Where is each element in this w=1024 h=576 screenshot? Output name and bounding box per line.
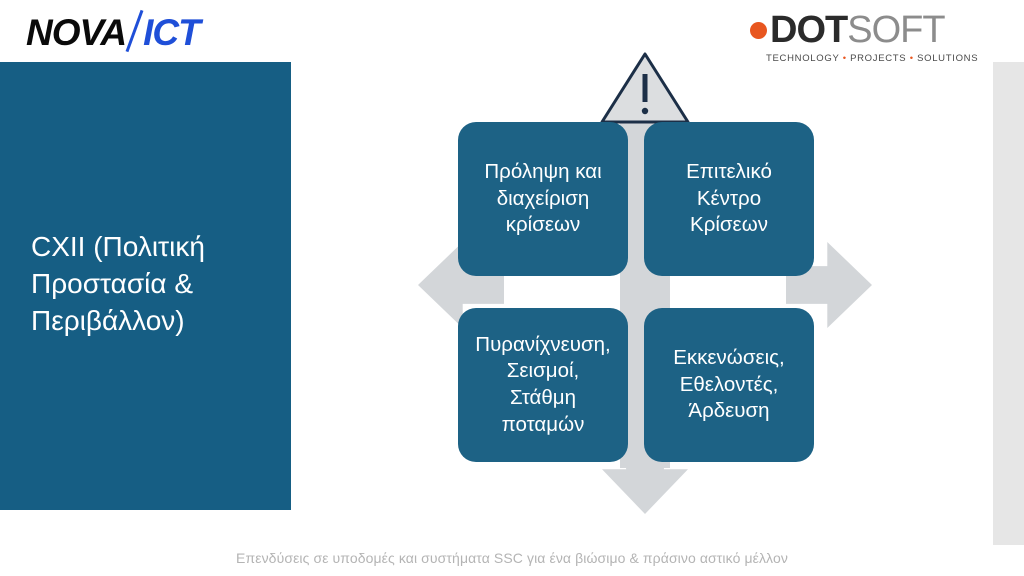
quadrant-box-crisis-center[interactable]: Επιτελικό Κέντρο Κρίσεων — [644, 122, 814, 276]
warning-triangle-icon — [598, 48, 692, 128]
quadrant-box-label: Πυρανίχνευση, Σεισμοί, Στάθμη ποταμών — [475, 332, 610, 439]
quadrant-box-detection[interactable]: Πυρανίχνευση, Σεισμοί, Στάθμη ποταμών — [458, 308, 628, 462]
dotsoft-dot-text: DOT — [770, 11, 847, 49]
dotsoft-wordmark: DOT SOFT — [750, 10, 968, 50]
tagline-solutions: SOLUTIONS — [917, 53, 978, 64]
tagline-separator-2: • — [910, 53, 914, 64]
right-accent-bar — [993, 62, 1024, 545]
dotsoft-dot-icon — [750, 22, 767, 39]
quadrant-box-evacuation[interactable]: Εκκενώσεις, Εθελοντές, Άρδευση — [644, 308, 814, 462]
nova-ict-logo: NOVA ICT — [26, 12, 258, 52]
nova-slash-icon — [123, 11, 145, 53]
slide-canvas: NOVA ICT DOT SOFT TECHNOLOGY • PROJECTS … — [0, 0, 1024, 576]
quadrant-box-label: Επιτελικό Κέντρο Κρίσεων — [686, 159, 772, 239]
nova-wordmark: NOVA — [26, 14, 126, 51]
dotsoft-soft-text: SOFT — [847, 11, 944, 49]
ict-wordmark: ICT — [143, 14, 200, 51]
title-panel: CXII (Πολιτική Προστασία & Περιβάλλον) — [0, 62, 291, 510]
quadrant-diagram: Πρόληψη και διαχείριση κρίσεων Επιτελικό… — [410, 46, 880, 516]
quadrant-box-label: Πρόληψη και διαχείριση κρίσεων — [484, 159, 601, 239]
footer-caption: Επενδύσεις σε υποδομές και συστήματα SSC… — [0, 550, 1024, 566]
quadrant-box-label: Εκκενώσεις, Εθελοντές, Άρδευση — [673, 345, 785, 425]
page-title: CXII (Πολιτική Προστασία & Περιβάλλον) — [31, 228, 271, 340]
quadrant-box-prevention[interactable]: Πρόληψη και διαχείριση κρίσεων — [458, 122, 628, 276]
